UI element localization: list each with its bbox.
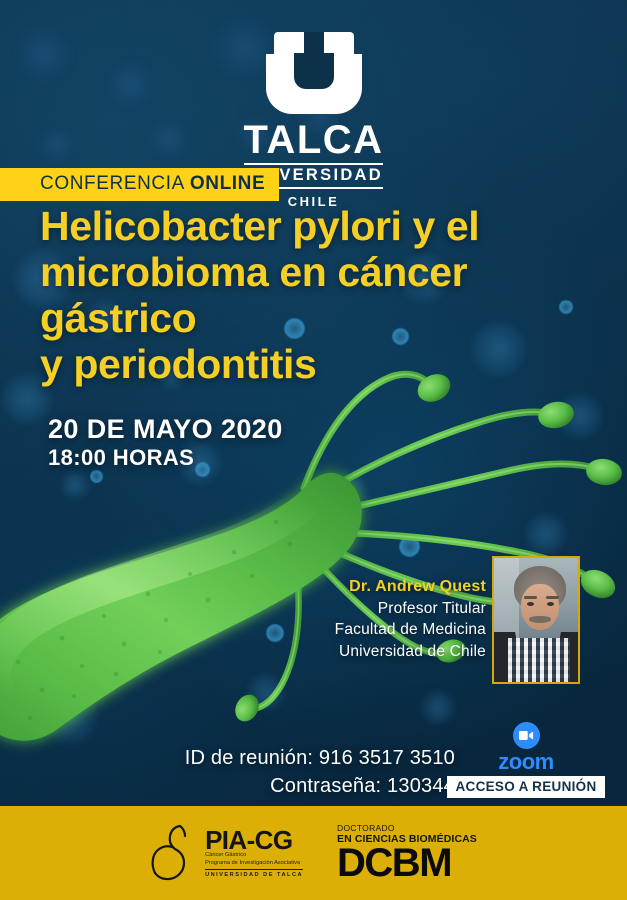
event-datetime: 20 DE MAYO 2020 18:00 HORAS bbox=[48, 414, 283, 471]
meeting-credentials: ID de reunión: 916 3517 3510 Contraseña:… bbox=[180, 744, 455, 801]
conference-poster: TALCA UNIVERSIDAD CHILE CONFERENCIAONLIN… bbox=[0, 0, 627, 900]
event-date: 20 DE MAYO 2020 bbox=[48, 414, 283, 445]
logo-talca-text: TALCA bbox=[243, 120, 383, 160]
banner-prefix: CONFERENCIA bbox=[40, 173, 185, 194]
pia-cg-title: PIA-CG bbox=[205, 828, 303, 853]
title-line-2: microbioma en cáncer gástrico bbox=[40, 250, 600, 342]
dcbm-acronym: DCBM bbox=[337, 845, 451, 882]
pia-cg-university: UNIVERSIDAD DE TALCA bbox=[205, 869, 303, 878]
page-title: Helicobacter pylori y el microbioma en c… bbox=[40, 204, 600, 388]
zoom-video-camera-icon bbox=[513, 722, 540, 749]
event-time: 18:00 HORAS bbox=[48, 445, 283, 471]
speaker-faculty: Facultad de Medicina bbox=[318, 619, 486, 640]
banner-emphasis: ONLINE bbox=[190, 173, 265, 194]
talca-u-monogram-icon bbox=[266, 32, 362, 114]
title-line-3: y periodontitis bbox=[40, 342, 600, 388]
meeting-password: Contraseña: 130344 bbox=[180, 772, 455, 800]
stomach-outline-icon bbox=[150, 824, 198, 882]
speaker-info: Dr. Andrew Quest Profesor Titular Facult… bbox=[318, 576, 486, 662]
conference-online-banner: CONFERENCIAONLINE bbox=[0, 168, 279, 201]
zoom-join-button[interactable]: ACCESO A REUNIÓN bbox=[447, 776, 604, 798]
dcbm-logo: DOCTORADO EN CIENCIAS BIOMÉDICAS DCBM bbox=[337, 824, 477, 882]
pia-cg-subtitle-1: Cáncer Gástrico bbox=[205, 852, 303, 860]
meeting-id: ID de reunión: 916 3517 3510 bbox=[180, 744, 455, 772]
pia-cg-subtitle-2: Programa de Investigación Asociativa bbox=[205, 860, 303, 868]
zoom-access-block[interactable]: zoom ACCESO A REUNIÓN bbox=[466, 722, 586, 798]
speaker-role: Profesor Titular bbox=[318, 598, 486, 619]
speaker-institution: Universidad de Chile bbox=[318, 641, 486, 662]
footer-logos-bar: PIA-CG Cáncer Gástrico Programa de Inves… bbox=[0, 806, 627, 900]
title-line-1: Helicobacter pylori y el bbox=[40, 204, 600, 250]
speaker-portrait bbox=[492, 556, 580, 684]
pia-cg-logo: PIA-CG Cáncer Gástrico Programa de Inves… bbox=[150, 824, 303, 882]
speaker-name: Dr. Andrew Quest bbox=[318, 576, 486, 598]
zoom-wordmark: zoom bbox=[498, 751, 553, 773]
